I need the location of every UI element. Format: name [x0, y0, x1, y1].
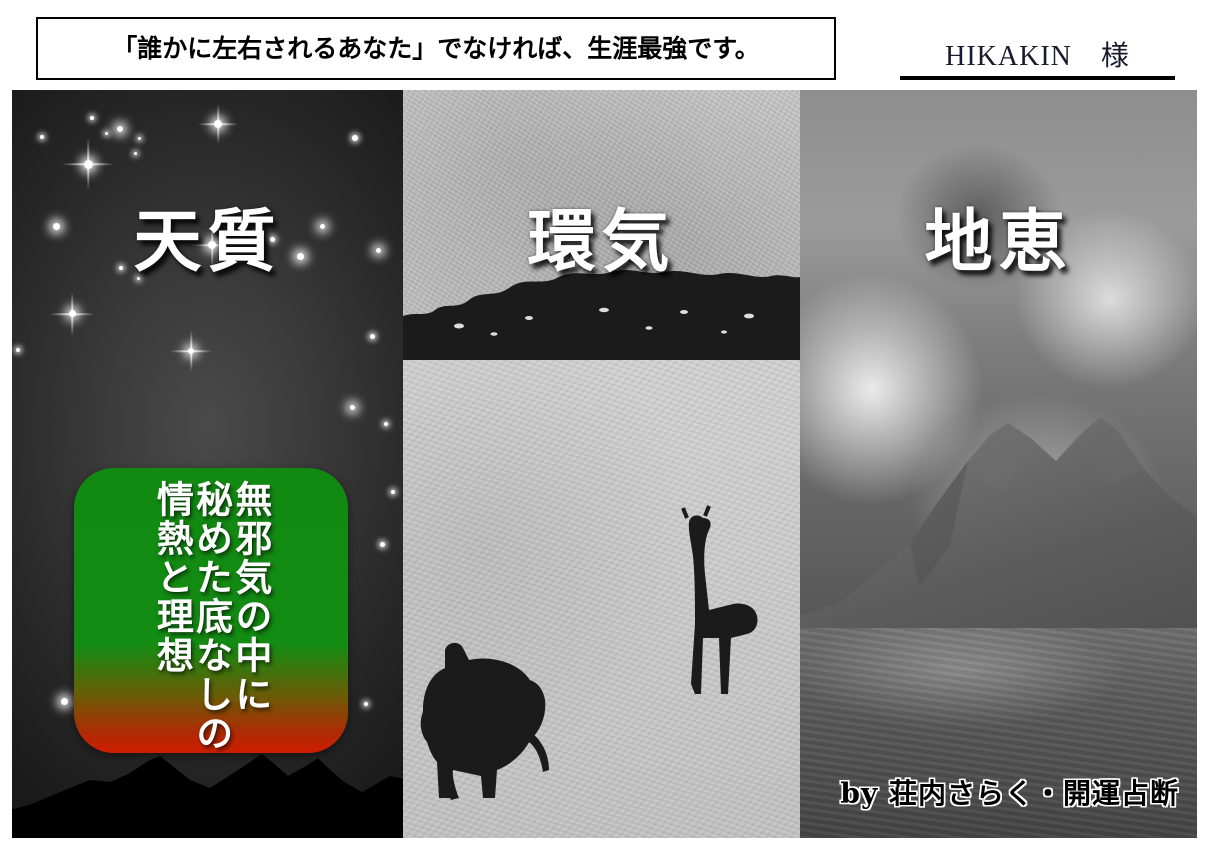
star-icon [53, 223, 60, 230]
panel-chie: 地恵 極めないと 限界を感じないと 気が済まない by 荘内さらく・開運占断 [800, 90, 1197, 838]
star-icon [61, 698, 68, 705]
star-sparkle-icon [62, 138, 114, 190]
star-icon [270, 237, 275, 242]
signature-credit: by 荘内さらく・開運占断 [840, 772, 1179, 812]
star-icon [16, 348, 20, 352]
star-icon [350, 405, 355, 410]
star-sparkle-icon [170, 330, 212, 372]
star-icon [297, 253, 304, 260]
panel-kanki: 環気 自分の目標を ただ辛抱づよく かつスマァトに 求めるのみ！ [403, 90, 800, 838]
message-box-tenshitsu: 無邪気の中に 秘めた底なしの 情熱と理想 [74, 468, 348, 753]
star-sparkle-icon [198, 104, 238, 144]
message-column: 情熱と理想 [152, 480, 191, 753]
three-panel-artwork: 天質 無邪気の中に 秘めた底なしの 情熱と理想 [12, 90, 1197, 838]
star-icon [117, 126, 123, 132]
star-icon [384, 422, 388, 426]
header-bar: 「誰かに左右されるあなた」でなければ、生涯最強です。 HIKAKIN 様 [0, 0, 1209, 90]
star-icon [364, 702, 368, 706]
star-icon [352, 135, 358, 141]
headline-box: 「誰かに左右されるあなた」でなければ、生涯最強です。 [36, 17, 836, 80]
acacia-tree-icon [403, 240, 800, 360]
star-icon [391, 490, 395, 494]
headline-text: 「誰かに左右されるあなた」でなければ、生涯最強です。 [112, 36, 760, 61]
star-icon [376, 248, 381, 253]
star-sparkle-icon [190, 223, 234, 267]
recipient-name: HIKAKIN 様 [945, 34, 1130, 74]
star-icon [370, 334, 375, 339]
savanna-animals-icon [403, 498, 800, 828]
star-icon [380, 542, 385, 547]
star-icon [40, 135, 44, 139]
star-icon [105, 132, 108, 135]
star-icon [138, 137, 141, 140]
star-icon [134, 152, 137, 155]
star-icon [137, 277, 140, 280]
panel-tenshitsu: 天質 無邪気の中に 秘めた底なしの 情熱と理想 [12, 90, 403, 838]
star-icon [119, 266, 123, 270]
star-icon [90, 116, 94, 120]
star-sparkle-icon [50, 292, 94, 336]
recipient-field: HIKAKIN 様 [900, 32, 1175, 80]
star-icon [320, 224, 325, 229]
message-column: 秘めた底なしの [191, 480, 230, 753]
message-column: 無邪気の中に [231, 480, 270, 753]
